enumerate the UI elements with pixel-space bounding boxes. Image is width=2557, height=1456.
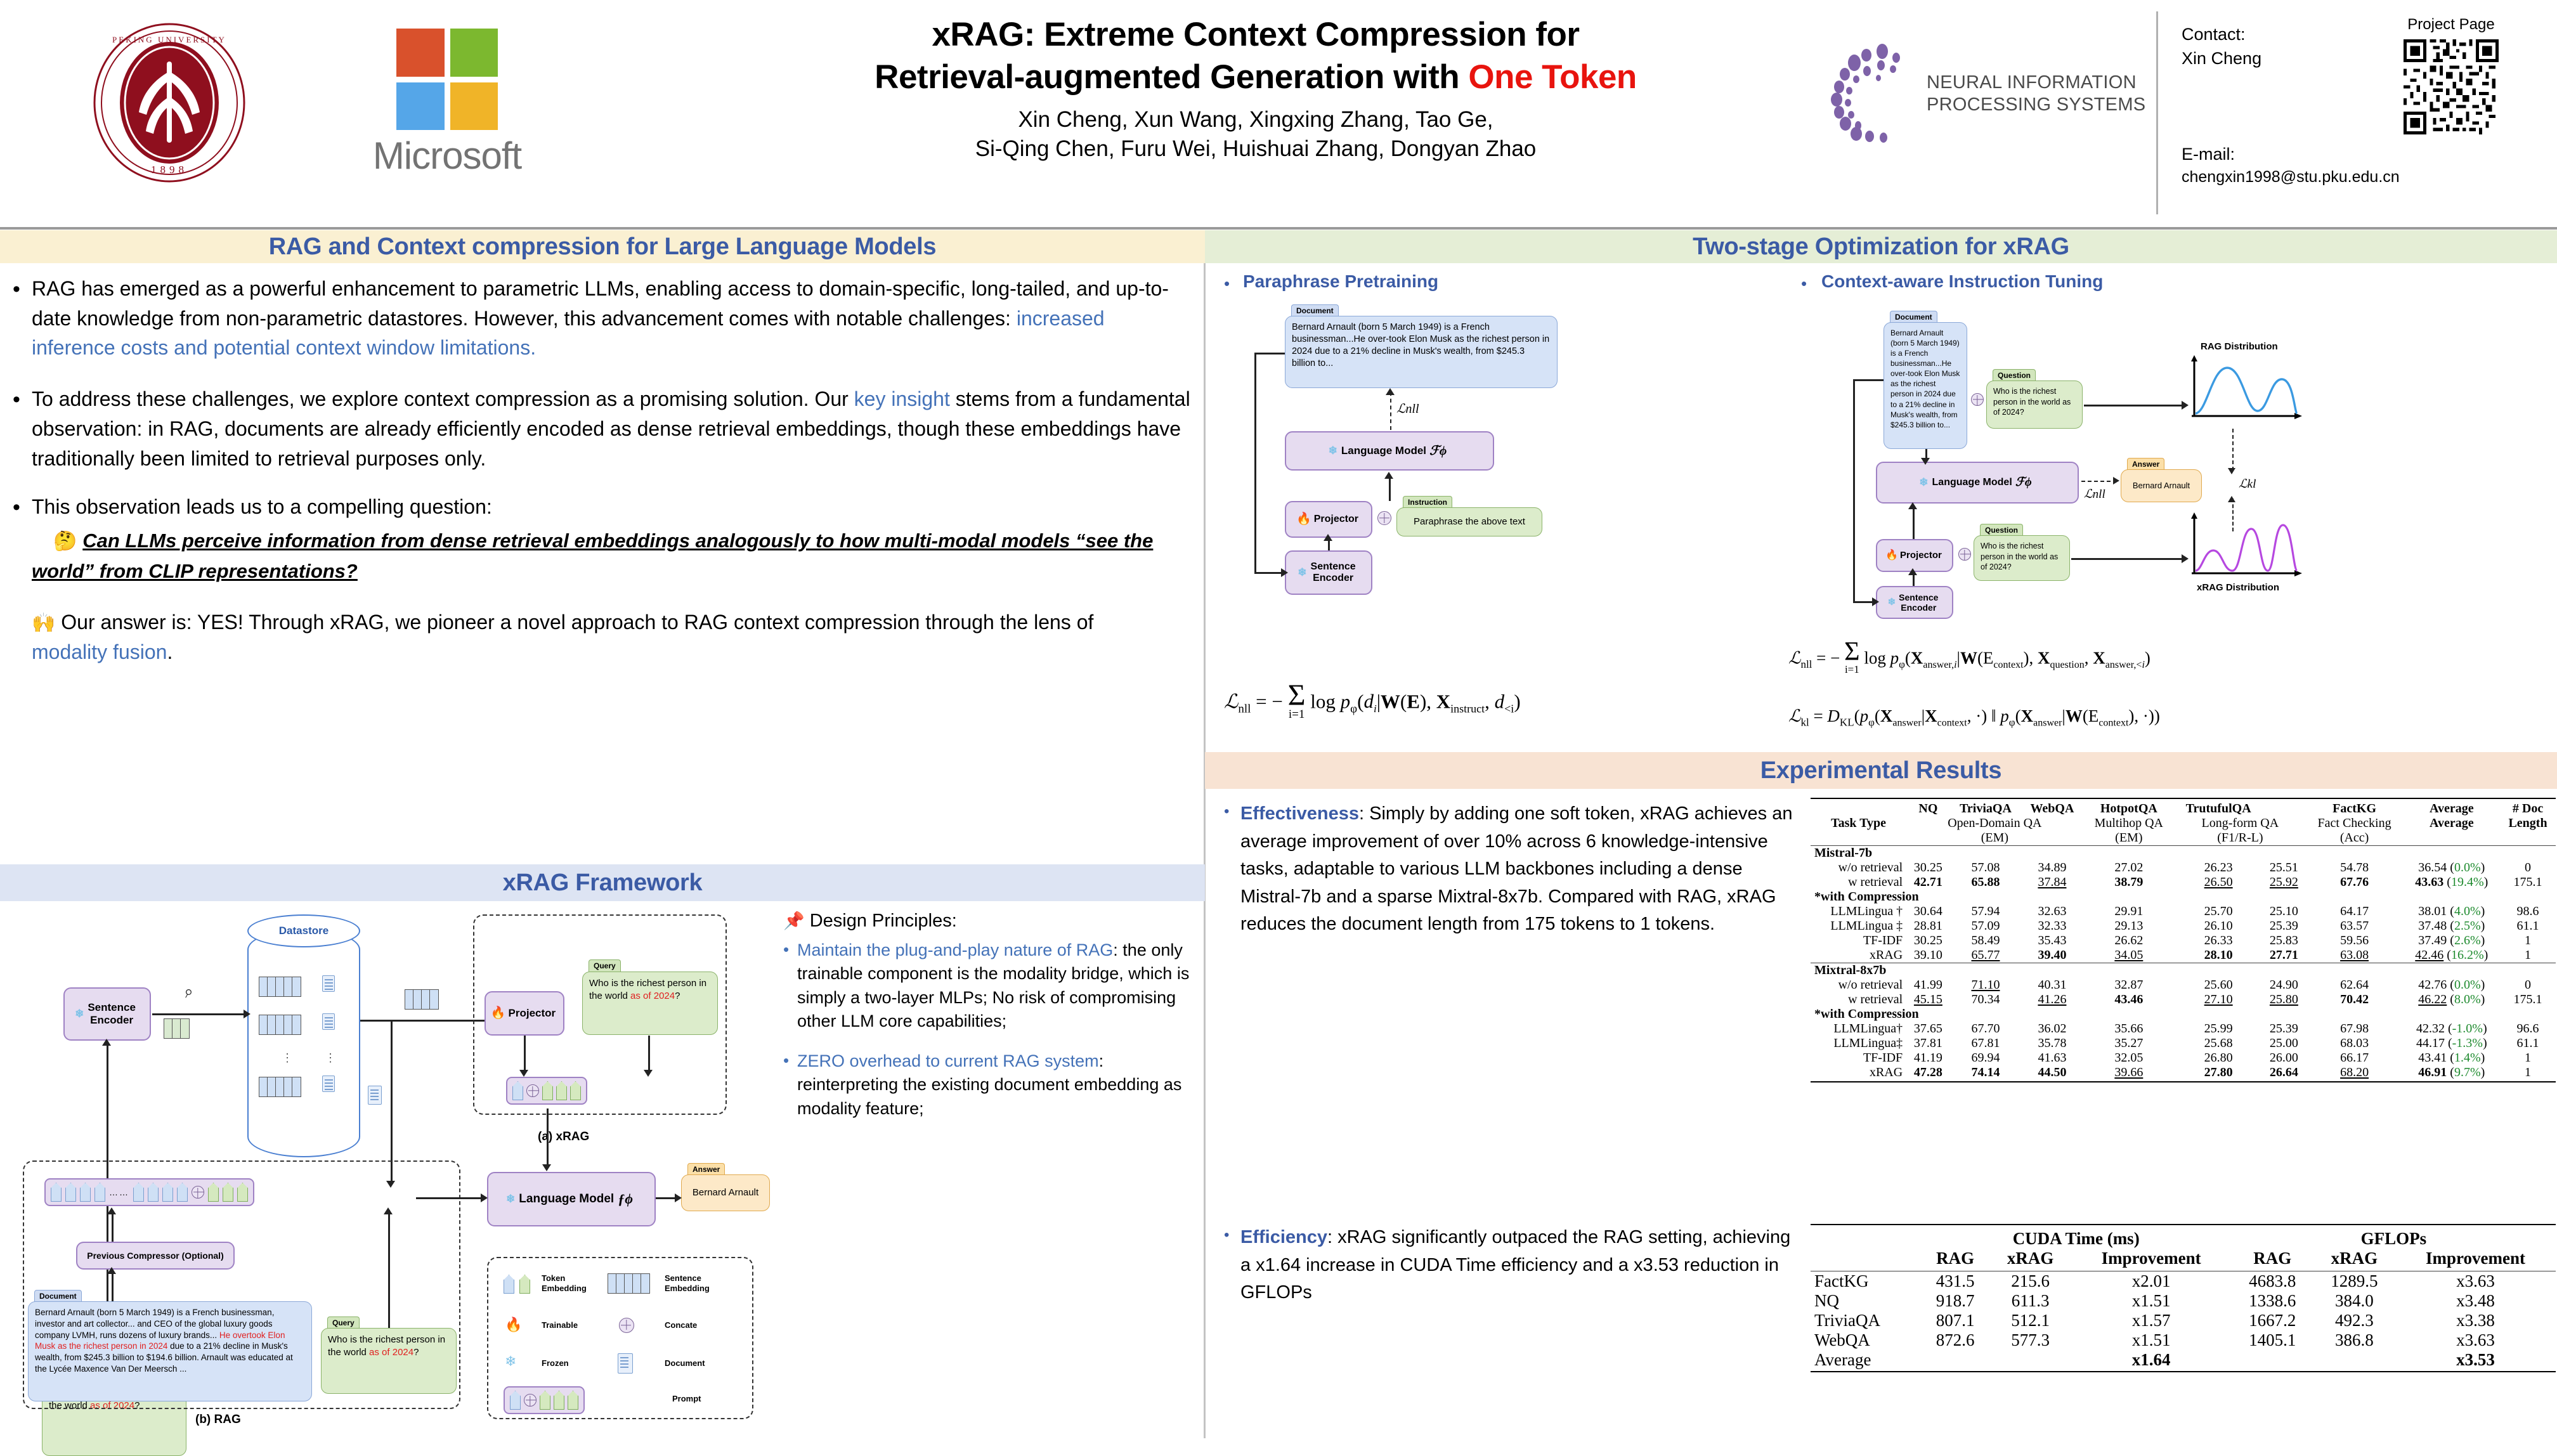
table-cell: 175.1 xyxy=(2500,875,2556,890)
table-cell: 492.3 xyxy=(2313,1311,2395,1330)
loss-nll-label: ℒnll xyxy=(1396,401,1419,417)
table-header-row: Task TypeOpen-Domain QAMultihop QALong-f… xyxy=(1811,816,2556,831)
list-item: • ZERO overhead to current RAG system: r… xyxy=(783,1050,1194,1121)
row-label: Average xyxy=(1811,1350,1921,1370)
token-embedding-icon xyxy=(94,1183,105,1202)
flame-trainable-icon: 🔥 xyxy=(1885,550,1898,561)
group-label: *with Compression xyxy=(1811,1007,2556,1022)
table-cell: x1.57 xyxy=(2071,1311,2232,1330)
table-cell: 37.49 (2.6%) xyxy=(2404,933,2501,948)
language-model-symbol: ƒϕ xyxy=(618,1191,633,1207)
contact-name: Xin Cheng xyxy=(2182,46,2346,70)
row-label: FactKG xyxy=(1811,1271,1921,1292)
table-cell: 386.8 xyxy=(2313,1330,2395,1350)
concat-icon xyxy=(619,1318,634,1333)
table-cell: 1667.2 xyxy=(2232,1311,2313,1330)
arrowhead xyxy=(1386,388,1395,395)
table-cell: 57.94 xyxy=(1950,904,2022,919)
document-icon xyxy=(322,975,335,992)
instruction-box: Paraphrase the above text xyxy=(1396,507,1542,536)
question-box-top: Who is the richest person in the world a… xyxy=(1986,380,2083,429)
arrow-to-rag-distribution xyxy=(2084,405,2185,406)
arrowhead xyxy=(1324,534,1332,541)
table-cell: 1 xyxy=(2500,933,2556,948)
table-cell: 42.71 xyxy=(1906,875,1949,890)
document-box-pretrain: Bernard Arnault (born 5 March 1949) is a… xyxy=(1285,316,1558,388)
previous-compressor-node: Previous Compressor (Optional) xyxy=(76,1242,235,1270)
token-embedding-icon xyxy=(556,1081,567,1100)
table-cell: 37.84 xyxy=(2021,875,2083,890)
table-cell: 26.50 xyxy=(2175,875,2262,890)
table-cell: 25.39 xyxy=(2262,919,2305,933)
table-cell: 918.7 xyxy=(1921,1291,1990,1311)
table-cell: x1.51 xyxy=(2071,1330,2232,1350)
row-label: TriviaQA xyxy=(1811,1311,1921,1330)
results-bullet-list: • Effectiveness: Simply by adding one so… xyxy=(1224,800,1795,955)
table-cell: 25.70 xyxy=(2175,904,2262,919)
table-row: TriviaQA807.1512.1x1.571667.2492.3x3.38 xyxy=(1811,1311,2556,1330)
xrag-prompt-tokens xyxy=(506,1077,587,1105)
neurips-label-line-2: PROCESSING SYSTEMS xyxy=(1927,94,2145,115)
column-header: HotpotQA xyxy=(2083,798,2175,816)
arrow-query-down xyxy=(648,1036,650,1072)
table-cell: 44.17 (-1.3%) xyxy=(2404,1036,2501,1051)
table-cell: 872.6 xyxy=(1921,1330,1990,1350)
table-row: LLMLingua†37.6567.7036.0235.6625.9925.39… xyxy=(1811,1022,2556,1036)
datastore-embedding-row xyxy=(259,1077,301,1097)
column-header xyxy=(2262,798,2305,816)
row-label: xRAG xyxy=(1811,948,1906,963)
table-cell: 41.99 xyxy=(1906,978,1949,992)
arrowhead xyxy=(675,1193,682,1202)
table-cell: 74.14 xyxy=(1950,1065,2022,1080)
arrow-rag-to-lm xyxy=(416,1197,485,1199)
table-cell: 41.26 xyxy=(2021,992,2083,1007)
project-page-qr-block: Project Page xyxy=(2365,16,2537,134)
answer-statement: 🙌 Our answer is: YES! Through xRAG, we p… xyxy=(13,608,1192,667)
table-row: w retrieval42.7165.8837.8438.7926.5025.9… xyxy=(1811,875,2556,890)
table-cell: 25.51 xyxy=(2262,861,2305,875)
microsoft-logo: Microsoft xyxy=(355,29,539,174)
paraphrase-pretraining-diagram: Document Bernard Arnault (born 5 March 1… xyxy=(1262,304,1795,577)
language-model-node-tuning: ❄ Language Model ℱϕ xyxy=(1876,462,2079,504)
arrowhead xyxy=(2228,496,2235,502)
table-header-row: (EM)(EM)(F1/R-L)(Acc) xyxy=(1811,831,2556,846)
table-cell: 64.17 xyxy=(2306,904,2404,919)
table-cell: 32.63 xyxy=(2021,904,2083,919)
question-tag: Question xyxy=(1993,369,2036,381)
bullet-dot-icon: • xyxy=(1224,274,1230,294)
table-cell: 41.63 xyxy=(2021,1051,2083,1065)
table-cell: 42.46 (16.2%) xyxy=(2404,948,2501,963)
email-label: E-mail: xyxy=(2182,142,2346,166)
dashed-to-answer xyxy=(2081,481,2117,482)
table-cell: 27.02 xyxy=(2083,861,2175,875)
token-embedding-icon xyxy=(80,1183,91,1202)
question-tag: Question xyxy=(1980,524,2023,536)
table-cell: 32.33 xyxy=(2021,919,2083,933)
column-header: TriviaQA xyxy=(1950,798,2022,816)
flame-trainable-icon: 🔥 xyxy=(505,1316,522,1333)
arrow-datastore-down xyxy=(391,1020,393,1185)
table-cell: 37.65 xyxy=(1906,1022,1949,1036)
formula-nll-left: ℒnll = − Σ i=1 log pφ(di|W(E), Xinstruct… xyxy=(1224,684,1521,722)
arrowhead xyxy=(644,1070,653,1077)
table-cell: 0 xyxy=(2500,978,2556,992)
token-embedding-icon xyxy=(519,1275,530,1294)
column-header: (Acc) xyxy=(2306,831,2404,846)
section-banner-experimental: Experimental Results xyxy=(1205,752,2557,789)
table-cell: 68.20 xyxy=(2306,1065,2404,1080)
column-header: Improvement xyxy=(2395,1249,2556,1271)
arrowhead xyxy=(384,1207,393,1214)
table-cell: 46.22 (8.0%) xyxy=(2404,992,2501,1007)
row-label: w/o retrieval xyxy=(1811,978,1906,992)
table-bottom-rule xyxy=(1811,1080,2556,1082)
document-icon xyxy=(322,1076,335,1092)
table-row: w retrieval45.1570.3441.2643.4627.1025.8… xyxy=(1811,992,2556,1007)
list-item: • RAG has emerged as a powerful enhancem… xyxy=(13,274,1192,363)
column-header: (F1/R-L) xyxy=(2175,831,2306,846)
column-header: Fact Checking xyxy=(2306,816,2404,831)
projector-node-pretrain: 🔥 Projector xyxy=(1285,501,1372,538)
token-embedding-icon xyxy=(542,1081,553,1100)
table-cell: 43.46 xyxy=(2083,992,2175,1007)
projector-node-tuning: 🔥 Projector xyxy=(1876,539,1953,572)
snowflake-frozen-icon: ❄ xyxy=(1298,566,1306,579)
subheading-context-aware-tuning: Context-aware Instruction Tuning xyxy=(1821,271,2103,292)
column-header: Length xyxy=(2500,816,2556,831)
document-tag: Document xyxy=(1890,311,1937,323)
projector-node-xrag: 🔥 Projector xyxy=(485,991,564,1036)
table-cell: 27.10 xyxy=(2175,992,2262,1007)
language-model-label: Language Model xyxy=(1341,445,1426,457)
table-cell: 62.64 xyxy=(2306,978,2404,992)
contact-label: Contact: xyxy=(2182,22,2346,46)
table-cell: 512.1 xyxy=(1990,1311,2071,1330)
vertical-ellipsis: ⋮ xyxy=(282,1051,294,1065)
table-cell: 30.25 xyxy=(1906,933,1949,948)
token-embedding-icon xyxy=(540,1391,550,1410)
token-embedding-icon xyxy=(162,1183,173,1202)
table-cell: 0 xyxy=(2500,861,2556,875)
snowflake-frozen-icon: ❄ xyxy=(506,1193,515,1206)
query-embedding xyxy=(164,1018,190,1039)
search-icon: ⌕ xyxy=(181,981,195,1003)
document-icon xyxy=(618,1353,633,1374)
table-cell: 431.5 xyxy=(1921,1271,1990,1292)
table-group-row: Mixtral-8x7b xyxy=(1811,963,2556,978)
design-principles-block: 📌 Design Principles: • Maintain the plug… xyxy=(783,908,1194,1121)
table-group-row: *with Compression xyxy=(1811,890,2556,904)
table-cell: 25.83 xyxy=(2262,933,2305,948)
table-cell: 29.13 xyxy=(2083,919,2175,933)
table-bottom-rule xyxy=(1811,1370,2556,1372)
table-cell: 42.32 (-1.0%) xyxy=(2404,1022,2501,1036)
table-cell: 63.08 xyxy=(2306,948,2404,963)
table-cell: 61.1 xyxy=(2500,919,2556,933)
table-cell: 1405.1 xyxy=(2232,1330,2313,1350)
table-cell: 71.10 xyxy=(1950,978,2022,992)
table-cell: 32.87 xyxy=(2083,978,2175,992)
table-cell: 35.66 xyxy=(2083,1022,2175,1036)
datastore-label: Datastore xyxy=(247,925,360,937)
concat-icon xyxy=(524,1394,537,1407)
table-cell: 25.60 xyxy=(2175,978,2262,992)
concat-icon xyxy=(1958,548,1971,561)
raised-hands-icon: 🙌 xyxy=(32,613,55,634)
table-cell: 25.39 xyxy=(2262,1022,2305,1036)
table-cell: 70.34 xyxy=(1950,992,2022,1007)
table-cell: 577.3 xyxy=(1990,1330,2071,1350)
arrowhead xyxy=(107,1267,116,1274)
table-cell: 46.91 (9.7%) xyxy=(2404,1065,2501,1080)
table-cell: x3.53 xyxy=(2395,1350,2556,1370)
table-cell: 39.10 xyxy=(1906,948,1949,963)
datastore-embedding-row xyxy=(259,977,301,997)
table-cell: 215.6 xyxy=(1990,1271,2071,1292)
table-cell: 26.33 xyxy=(2175,933,2262,948)
table-cell: x3.63 xyxy=(2395,1330,2556,1350)
token-embedding-icon xyxy=(570,1081,581,1100)
vertical-ellipsis: ⋮ xyxy=(325,1051,336,1065)
title-accent-one-token: One Token xyxy=(1468,58,1636,96)
row-label: LLMLingua ‡ xyxy=(1811,919,1906,933)
snowflake-frozen-icon: ❄ xyxy=(1329,445,1337,457)
table-cell: 30.25 xyxy=(1906,861,1949,875)
column-divider xyxy=(1204,230,1206,1438)
table-cell: 37.48 (2.5%) xyxy=(2404,919,2501,933)
table-cell: 96.6 xyxy=(2500,1022,2556,1036)
table-cell: 24.90 xyxy=(2262,978,2305,992)
bullet-dot-icon: • xyxy=(13,274,32,363)
design-principles-heading: 📌 Design Principles: xyxy=(783,908,1194,933)
column-header: FactKG xyxy=(2306,798,2404,816)
table-cell: x3.38 xyxy=(2395,1311,2556,1330)
table-cell: 35.78 xyxy=(2021,1036,2083,1051)
row-label: w/o retrieval xyxy=(1811,861,1906,875)
table-cell: x3.48 xyxy=(2395,1291,2556,1311)
table-cell: 25.00 xyxy=(2262,1036,2305,1051)
row-label: TF-IDF xyxy=(1811,1051,1906,1065)
table-row: LLMLingua †30.6457.9432.6329.9125.7025.1… xyxy=(1811,904,2556,919)
token-embedding-icon xyxy=(554,1391,564,1410)
table-cell: 36.02 xyxy=(2021,1022,2083,1036)
table-cell: 26.10 xyxy=(2175,919,2262,933)
table-cell: 43.41 (1.4%) xyxy=(2404,1051,2501,1065)
table-row: TF-IDF30.2558.4935.4326.6226.3325.8359.5… xyxy=(1811,933,2556,948)
answer-tag: Answer xyxy=(2127,458,2164,470)
token-embedding-icon xyxy=(568,1391,578,1410)
token-embedding-icon xyxy=(510,1391,521,1410)
answer-text-blue: modality fusion xyxy=(32,640,167,663)
spacer xyxy=(13,608,32,667)
efficiency-bullet-list: • Efficiency: xRAG significantly outpace… xyxy=(1224,1224,1795,1323)
rag-prompt-tokens: …… xyxy=(44,1178,254,1206)
column-header: (EM) xyxy=(1906,831,2083,846)
document-box: Bernard Arnault (born 5 March 1949) is a… xyxy=(28,1301,312,1401)
table-cell: 175.1 xyxy=(2500,992,2556,1007)
table-cell: 26.62 xyxy=(2083,933,2175,948)
subheading-paraphrase-pretraining: Paraphrase Pretraining xyxy=(1243,271,1438,292)
arrowhead xyxy=(107,1207,116,1214)
projector-label: Projector xyxy=(509,1007,556,1020)
title-line-1: xRAG: Extreme Context Compression for xyxy=(698,14,1814,56)
legend-label-frozen: Frozen xyxy=(542,1358,569,1368)
arrowhead xyxy=(481,1193,488,1202)
table-cell: 45.15 xyxy=(1906,992,1949,1007)
principle-1-blue: Maintain the plug-and-play nature of RAG xyxy=(797,940,1113,959)
concat-icon xyxy=(192,1186,204,1199)
legend-token-icons xyxy=(504,1275,530,1294)
document-icon xyxy=(322,1013,335,1030)
arrow-xrag-to-lm xyxy=(547,1108,549,1167)
table-cell: 65.88 xyxy=(1950,875,2022,890)
bullet-2-text-blue: key insight xyxy=(854,387,950,410)
arrowhead xyxy=(1281,568,1288,577)
table-cell: 29.91 xyxy=(2083,904,2175,919)
qr-code-icon[interactable] xyxy=(2404,39,2499,134)
table-cell: 25.68 xyxy=(2175,1036,2262,1051)
table-cell xyxy=(1921,1350,1990,1370)
bullet-1-text-a: RAG has emerged as a powerful enhancemen… xyxy=(32,277,1169,330)
flame-trainable-icon: 🔥 xyxy=(491,1006,506,1020)
table-row: w/o retrieval30.2557.0834.8927.0226.2325… xyxy=(1811,861,2556,875)
column-header: NQ xyxy=(1906,798,1949,816)
answer-box: Bernard Arnault xyxy=(681,1174,770,1211)
arrow-doc-to-compressor xyxy=(112,1270,114,1303)
bullet-dot-icon: • xyxy=(783,1050,797,1121)
token-embedding-icon xyxy=(512,1081,523,1100)
token-embedding-icon xyxy=(133,1183,144,1202)
dashed-kl-top xyxy=(2232,429,2234,471)
table-cell: 42.76 (0.0%) xyxy=(2404,978,2501,992)
snowflake-frozen-icon: ❄ xyxy=(1919,476,1928,489)
column-header: WebQA xyxy=(2021,798,2083,816)
qr-label: Project Page xyxy=(2365,16,2537,34)
arrowhead xyxy=(2228,468,2235,474)
legend-label-document: Document xyxy=(665,1358,705,1368)
neurips-logo: NEURAL INFORMATION PROCESSING SYSTEMS xyxy=(1826,38,2150,149)
main-results-table: NQTriviaQAWebQAHotpotQATrutufulQAFactKGA… xyxy=(1811,798,2556,1082)
arrowhead xyxy=(2113,477,2119,484)
group-header-cuda: CUDA Time (ms) xyxy=(1921,1225,2232,1249)
bullet-dot-icon: • xyxy=(1224,800,1240,939)
table-cell: 67.98 xyxy=(2306,1022,2404,1036)
table-cell: 30.64 xyxy=(1906,904,1949,919)
concat-icon xyxy=(1377,511,1391,525)
table-cell: 39.40 xyxy=(2021,948,2083,963)
token-embedding-icon xyxy=(148,1183,159,1202)
snowflake-frozen-icon: ❄ xyxy=(75,1008,84,1020)
arrow-doc-to-encoder xyxy=(1254,353,1256,573)
table-group-row: *with Compression xyxy=(1811,1007,2556,1022)
group-label: *with Compression xyxy=(1811,890,2556,904)
microsoft-wordmark: Microsoft xyxy=(355,134,539,178)
snowflake-frozen-icon: ❄ xyxy=(505,1353,516,1370)
query-tag: Query xyxy=(589,959,621,972)
table-cell: 25.80 xyxy=(2262,992,2305,1007)
loss-nll-label: ℒnll xyxy=(2084,487,2105,502)
efficiency-table: CUDA Time (ms)GFLOPsRAGxRAGImprovementRA… xyxy=(1811,1224,2556,1372)
table-cell: 61.1 xyxy=(2500,1036,2556,1051)
title-line-2: Retrieval-augmented Generation with One … xyxy=(698,56,1814,99)
table-cell xyxy=(2313,1350,2395,1370)
rag-distribution-label: RAG Distribution xyxy=(2201,341,2278,352)
table-cell: 38.79 xyxy=(2083,875,2175,890)
legend-label-concate: Concate xyxy=(665,1320,697,1330)
arrow-encoder-to-datastore xyxy=(152,1013,247,1015)
group-label: Mixtral-8x7b xyxy=(1811,963,2556,978)
question-lead: This observation leads us to a compellin… xyxy=(32,492,1173,522)
table-cell: 35.27 xyxy=(2083,1036,2175,1051)
table-cell: 37.81 xyxy=(1906,1036,1949,1051)
bullet-dot-icon: • xyxy=(1801,274,1807,294)
token-embedding-icon xyxy=(504,1275,514,1294)
table-header-row: RAGxRAGImprovementRAGxRAGImprovement xyxy=(1811,1249,2556,1271)
table-cell: 59.56 xyxy=(2306,933,2404,948)
svg-text:PEKING UNIVERSITY: PEKING UNIVERSITY xyxy=(112,35,226,44)
table-cell: 1289.5 xyxy=(2313,1271,2395,1292)
answer-text-a: Our answer is: YES! Through xRAG, we pio… xyxy=(61,611,1093,634)
table-cell: 36.54 (0.0%) xyxy=(2404,861,2501,875)
list-item: • To address these challenges, we explor… xyxy=(13,384,1192,473)
datastore-embedding-row xyxy=(259,1015,301,1035)
table-cell: 38.01 (4.0%) xyxy=(2404,904,2501,919)
document-icon xyxy=(368,1086,382,1105)
email-value[interactable]: chengxin1998@stu.pku.edu.cn xyxy=(2182,166,2346,189)
group-label: Mistral-7b xyxy=(1811,846,2556,861)
section-banner-framework: xRAG Framework xyxy=(0,864,1205,901)
principle-2-blue: ZERO overhead to current RAG system xyxy=(797,1051,1099,1070)
sentence-encoder-node: ❄ Sentence Encoder xyxy=(63,987,151,1041)
sentence-encoder-node-pretrain: ❄ Sentence Encoder xyxy=(1285,550,1372,595)
column-header: Open-Domain QA xyxy=(1906,816,2083,831)
table-cell: 44.50 xyxy=(2021,1065,2083,1080)
table-cell: 27.71 xyxy=(2262,948,2305,963)
arrowhead xyxy=(244,1010,250,1018)
table-cell: 34.89 xyxy=(2021,861,2083,875)
caption-b-rag: (b) RAG xyxy=(195,1413,241,1427)
arrowhead xyxy=(1872,597,1879,606)
effectiveness-label: Effectiveness xyxy=(1240,803,1359,824)
token-embedding-icon xyxy=(223,1183,233,1202)
table-cell: 26.00 xyxy=(2262,1051,2305,1065)
row-label: xRAG xyxy=(1811,1065,1906,1080)
arrowhead xyxy=(1384,472,1393,479)
intro-bullet-list: • RAG has emerged as a powerful enhancem… xyxy=(13,274,1192,686)
answer-tag: Answer xyxy=(687,1163,725,1175)
table-row: NQ918.7611.3x1.511338.6384.0x3.48 xyxy=(1811,1291,2556,1311)
instruction-tag: Instruction xyxy=(1403,496,1452,508)
language-model-label: Language Model xyxy=(519,1192,614,1206)
bullet-dot-icon: • xyxy=(783,939,797,1033)
sentence-encoder-label: Sentence Encoder xyxy=(88,1001,136,1026)
table-cell: x2.01 xyxy=(2071,1271,2232,1292)
table-cell: 25.92 xyxy=(2262,875,2305,890)
pushpin-icon: 📌 xyxy=(783,911,805,930)
table-cell: 25.10 xyxy=(2262,904,2305,919)
table-cell: 67.70 xyxy=(1950,1022,2022,1036)
bullet-2-text-a: To address these challenges, we explore … xyxy=(32,387,854,410)
poster-title-block: xRAG: Extreme Context Compression for Re… xyxy=(698,14,1814,164)
table-cell: 1338.6 xyxy=(2232,1291,2313,1311)
table-cell xyxy=(2232,1350,2313,1370)
arrowhead xyxy=(519,1070,528,1077)
formula-nll-right: ℒnll = − Σ i=1 log pφ(Xanswer,i|W(Econte… xyxy=(1788,642,2150,676)
table-cell: 32.05 xyxy=(2083,1051,2175,1065)
datastore-cylinder xyxy=(247,929,360,1157)
